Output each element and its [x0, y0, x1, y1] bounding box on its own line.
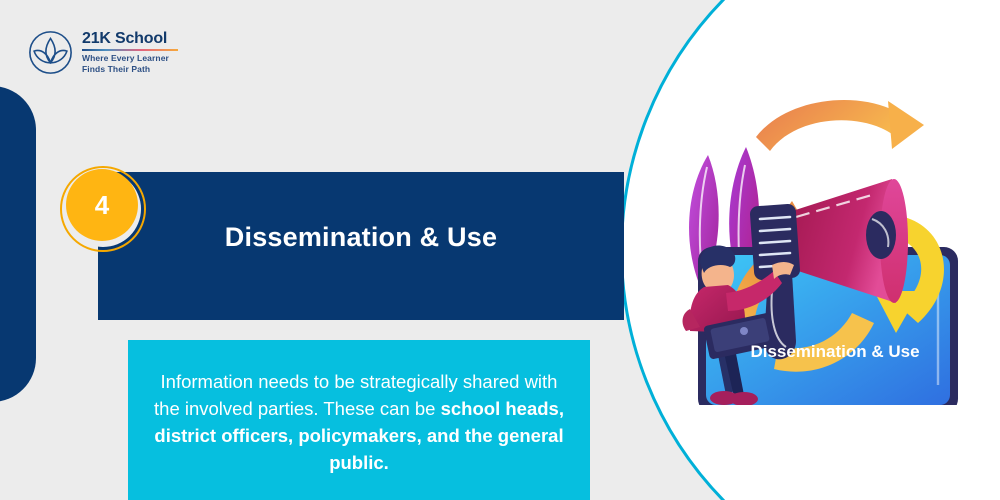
screen-caption: Dissemination & Use [750, 342, 919, 361]
brand-tagline-line1: Where Every Learner [82, 53, 169, 63]
brand-tagline: Where Every Learner Finds Their Path [82, 53, 178, 74]
lotus-circle-icon [28, 30, 73, 75]
brand-logo-text: 21K School Where Every Learner Finds The… [82, 31, 178, 74]
step-number-badge: 4 [60, 166, 150, 256]
slide-canvas: 21K School Where Every Learner Finds The… [0, 0, 1000, 500]
description-text: Information needs to be strategically sh… [146, 368, 572, 476]
orange-curved-arrow [756, 100, 924, 151]
title-banner: Dissemination & Use [98, 172, 624, 320]
badge-number: 4 [95, 192, 109, 218]
brand-name: 21K School [82, 31, 178, 48]
description-box: Information needs to be strategically sh… [128, 340, 590, 500]
brand-logo: 21K School Where Every Learner Finds The… [28, 30, 178, 75]
banner-title: Dissemination & Use [98, 222, 624, 253]
badge-circle: 4 [66, 169, 138, 241]
brand-tagline-line2: Finds Their Path [82, 64, 150, 74]
megaphone-laptop-dissemination-illustration: Dissemination & Use [660, 95, 990, 405]
navy-side-tab-shape [0, 86, 36, 402]
brand-gradient-rule [82, 49, 178, 52]
